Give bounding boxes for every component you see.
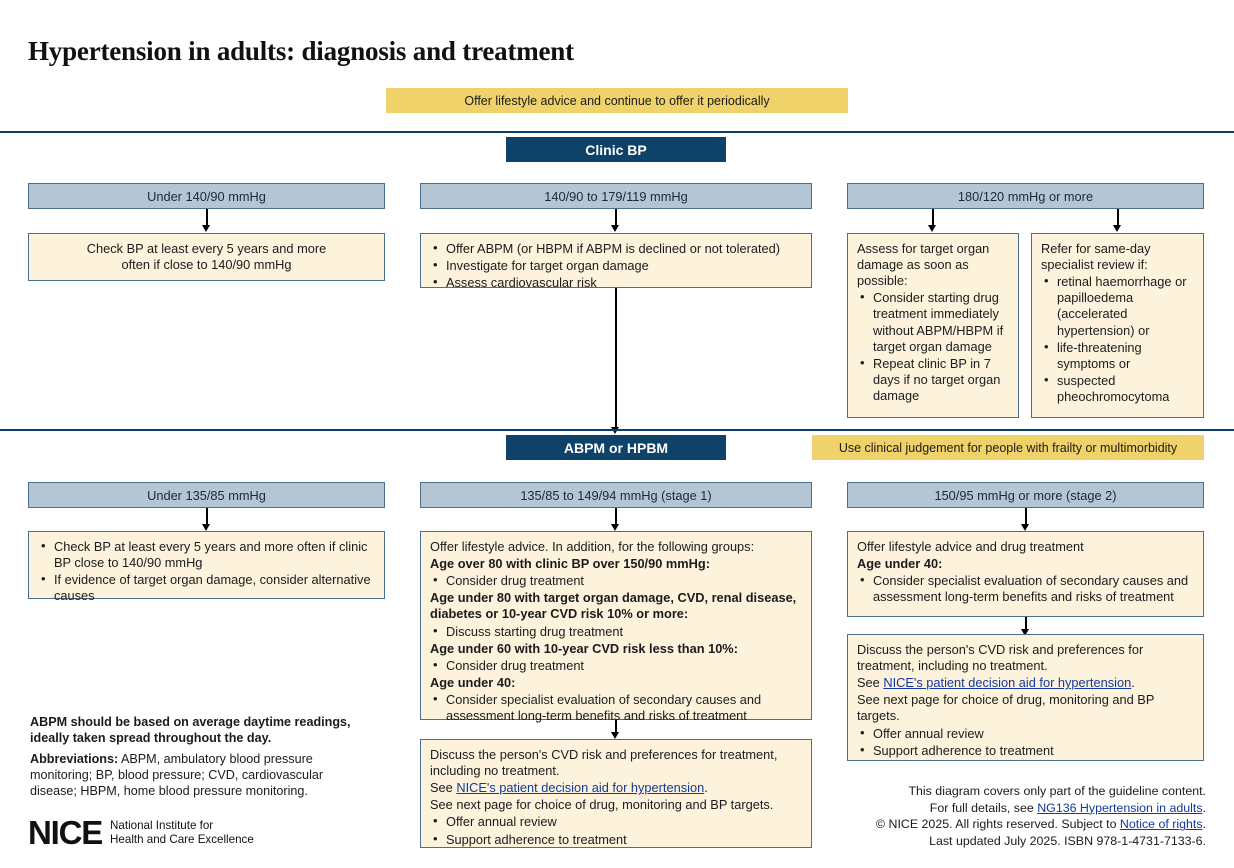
header-abpm-or-hpbm: ABPM or HPBM <box>506 435 726 460</box>
list-item: Consider drug treatment <box>430 573 802 589</box>
box-clinic-140-179: Offer ABPM (or HBPM if ABPM is declined … <box>420 233 812 288</box>
copyright-line3: © NICE 2025. All rights reserved. Subjec… <box>820 816 1206 833</box>
banner-lifestyle-advice: Offer lifestyle advice and continue to o… <box>386 88 848 113</box>
group-bullets-age-under-60: Consider drug treatment <box>430 658 802 674</box>
copyright-line1: This diagram covers only part of the gui… <box>820 783 1206 800</box>
category-140-90-to-179-119: 140/90 to 179/119 mmHg <box>420 183 812 209</box>
see-suffix: . <box>704 780 708 795</box>
box-stage1-lifestyle-groups: Offer lifestyle advice. In addition, for… <box>420 531 812 720</box>
connector-arrow <box>202 225 210 232</box>
nice-strapline-line1: National Institute for <box>110 819 254 833</box>
list-item: Consider drug treatment <box>430 658 802 674</box>
clinic-c3-left-intro: Assess for target organ damage as soon a… <box>857 241 1009 289</box>
box-refer-same-day-specialist: Refer for same-day specialist review if:… <box>1031 233 1204 418</box>
copyright-block: This diagram covers only part of the gui… <box>820 783 1206 850</box>
see-prefix: See <box>430 780 456 795</box>
connector-arrow <box>611 732 619 739</box>
abpm-c1-bullets: Check BP at least every 5 years and more… <box>38 539 375 604</box>
connector-line-to-abpm <box>615 288 617 430</box>
list-item: Offer annual review <box>857 726 1194 742</box>
list-item: Investigate for target organ damage <box>430 258 802 274</box>
copyright-line3-prefix: © NICE 2025. All rights reserved. Subjec… <box>876 817 1120 831</box>
connector-arrow <box>928 225 936 232</box>
connector-arrow <box>611 225 619 232</box>
see-prefix: See <box>857 675 883 690</box>
list-item: Consider specialist evaluation of second… <box>857 573 1194 605</box>
clinic-c2-bullets: Offer ABPM (or HBPM if ABPM is declined … <box>430 241 802 291</box>
section-divider-top <box>0 131 1234 133</box>
category-under-135-85: Under 135/85 mmHg <box>28 482 385 508</box>
box-abpm-under-135-85: Check BP at least every 5 years and more… <box>28 531 385 599</box>
note-abbreviations: Abbreviations: ABPM, ambulatory blood pr… <box>30 751 370 799</box>
category-150-95-or-more-stage2: 150/95 mmHg or more (stage 2) <box>847 482 1204 508</box>
category-135-85-to-149-94-stage1: 135/85 to 149/94 mmHg (stage 1) <box>420 482 812 508</box>
group-heading-age-over-80: Age over 80 with clinic BP over 150/90 m… <box>430 556 802 572</box>
header-clinic-bp: Clinic BP <box>506 137 726 162</box>
link-notice-of-rights[interactable]: Notice of rights <box>1120 817 1203 831</box>
clinic-c3-left-bullets: Consider starting drug treatment immedia… <box>857 290 1009 404</box>
abpm-c2-intro: Offer lifestyle advice. In addition, for… <box>430 539 802 555</box>
clinic-c1-line2: often if close to 140/90 mmHg <box>87 257 326 273</box>
abpm-c3-box2-line1: Discuss the person's CVD risk and prefer… <box>857 642 1194 674</box>
see-suffix: . <box>1131 675 1135 690</box>
list-item: retinal haemorrhage or papilloedema (acc… <box>1041 274 1194 338</box>
list-item: Offer annual review <box>430 814 802 830</box>
abpm-c3-box2-line2: See NICE's patient decision aid for hype… <box>857 675 1194 691</box>
clinic-c3-right-bullets: retinal haemorrhage or papilloedema (acc… <box>1041 274 1194 405</box>
page-title: Hypertension in adults: diagnosis and tr… <box>28 36 574 67</box>
group-bullets-age-over-80: Consider drug treatment <box>430 573 802 589</box>
abpm-c3-heading-age-under-40: Age under 40: <box>857 556 1194 572</box>
abpm-c2-box2-line3: See next page for choice of drug, monito… <box>430 797 802 813</box>
diagram-page: Hypertension in adults: diagnosis and tr… <box>0 0 1234 868</box>
copyright-line2: For full details, see NG136 Hypertension… <box>820 800 1206 817</box>
abpm-c3-intro: Offer lifestyle advice and drug treatmen… <box>857 539 1194 555</box>
nice-strapline: National Institute for Health and Care E… <box>110 819 254 846</box>
list-item: Consider starting drug treatment immedia… <box>857 290 1009 354</box>
box-assess-target-organ-damage: Assess for target organ damage as soon a… <box>847 233 1019 418</box>
note-abpm-average-readings: ABPM should be based on average daytime … <box>30 714 380 746</box>
section-divider-middle <box>0 429 1234 431</box>
copyright-line3-suffix: . <box>1203 817 1206 831</box>
list-item: Offer ABPM (or HBPM if ABPM is declined … <box>430 241 802 257</box>
list-item: Support adherence to treatment <box>430 832 802 848</box>
nice-logo: NICE National Institute for Health and C… <box>28 816 254 849</box>
copyright-line2-prefix: For full details, see <box>930 801 1037 815</box>
clinic-c3-right-intro: Refer for same-day specialist review if: <box>1041 241 1194 273</box>
box-stage2-discuss-cvd-risk: Discuss the person's CVD risk and prefer… <box>847 634 1204 761</box>
list-item: Check BP at least every 5 years and more… <box>38 539 375 571</box>
abbrev-label: Abbreviations: <box>30 752 118 766</box>
copyright-line4: Last updated July 2025. ISBN 978-1-4731-… <box>820 833 1206 850</box>
link-patient-decision-aid[interactable]: NICE's patient decision aid for hyperten… <box>883 675 1131 690</box>
list-item: life-threatening symptoms or <box>1041 340 1194 372</box>
clinic-c1-line1: Check BP at least every 5 years and more <box>87 241 326 257</box>
banner-frailty-multimorbidity: Use clinical judgement for people with f… <box>812 435 1204 460</box>
connector-arrow <box>611 524 619 531</box>
link-ng136-guideline[interactable]: NG136 Hypertension in adults <box>1037 801 1202 815</box>
box-stage1-discuss-cvd-risk: Discuss the person's CVD risk and prefer… <box>420 739 812 848</box>
list-item: If evidence of target organ damage, cons… <box>38 572 375 604</box>
category-under-140-90: Under 140/90 mmHg <box>28 183 385 209</box>
abpm-c2-box2-bullets: Offer annual review Support adherence to… <box>430 814 802 847</box>
group-heading-age-under-40: Age under 40: <box>430 675 802 691</box>
abpm-c3-box2-line3: See next page for choice of drug, monito… <box>857 692 1194 724</box>
category-180-120-or-more: 180/120 mmHg or more <box>847 183 1204 209</box>
copyright-line2-suffix: . <box>1203 801 1206 815</box>
list-item: Support adherence to treatment <box>857 743 1194 759</box>
connector-arrow <box>1021 524 1029 531</box>
connector-arrow <box>1113 225 1121 232</box>
abpm-c2-box2-line1: Discuss the person's CVD risk and prefer… <box>430 747 802 779</box>
list-item: suspected pheochromocytoma <box>1041 373 1194 405</box>
box-clinic-under-140-90: Check BP at least every 5 years and more… <box>28 233 385 281</box>
note-abpm-text: ABPM should be based on average daytime … <box>30 714 380 746</box>
link-patient-decision-aid[interactable]: NICE's patient decision aid for hyperten… <box>456 780 704 795</box>
group-bullets-age-under-80: Discuss starting drug treatment <box>430 624 802 640</box>
list-item: Repeat clinic BP in 7 days if no target … <box>857 356 1009 404</box>
abpm-c3-bullets: Consider specialist evaluation of second… <box>857 573 1194 605</box>
nice-strapline-line2: Health and Care Excellence <box>110 833 254 847</box>
abpm-c2-box2-line2: See NICE's patient decision aid for hype… <box>430 780 802 796</box>
nice-wordmark: NICE <box>28 816 102 849</box>
box-stage2-lifestyle-drug-treatment: Offer lifestyle advice and drug treatmen… <box>847 531 1204 617</box>
group-heading-age-under-80: Age under 80 with target organ damage, C… <box>430 590 802 622</box>
list-item: Discuss starting drug treatment <box>430 624 802 640</box>
connector-arrow <box>202 524 210 531</box>
group-heading-age-under-60: Age under 60 with 10-year CVD risk less … <box>430 641 802 657</box>
abpm-c3-box2-bullets: Offer annual review Support adherence to… <box>857 726 1194 759</box>
